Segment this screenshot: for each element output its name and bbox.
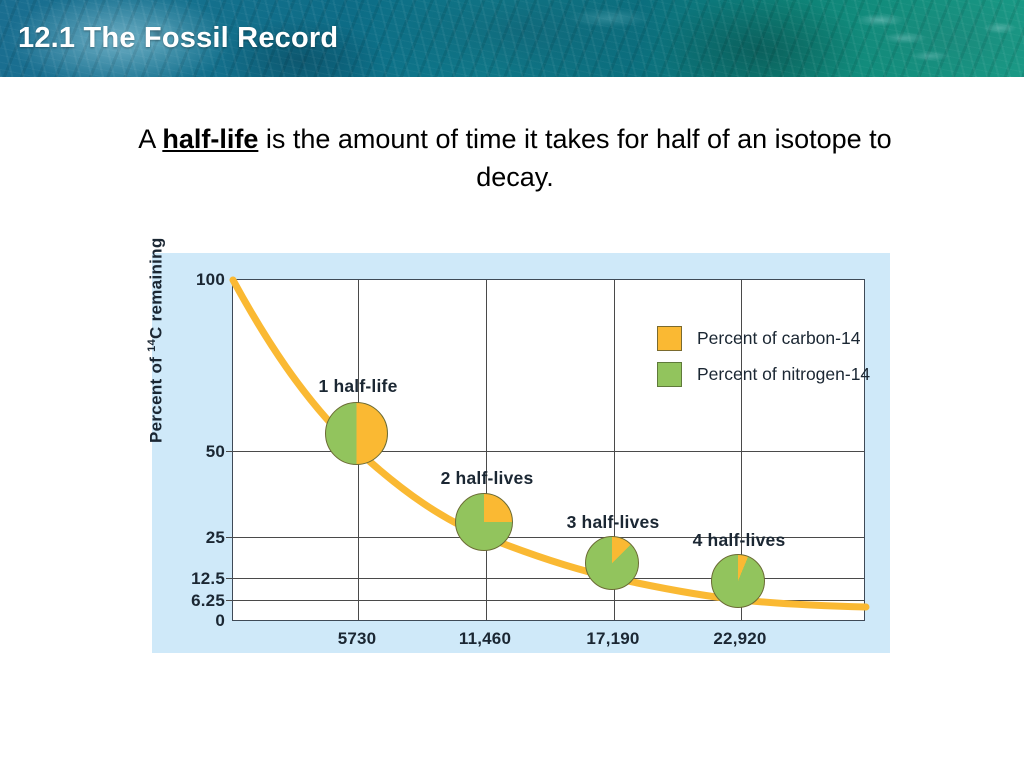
x-tick-label-22920: 22,920 [685, 629, 795, 649]
y-axis-title-prefix: Percent of [147, 352, 166, 443]
half-life-term: half-life [162, 124, 258, 154]
y-tick-label-0: 0 [155, 611, 225, 631]
page-title: 12.1 The Fossil Record [18, 20, 338, 56]
lesson-statement: A half-life is the amount of time it tak… [110, 120, 920, 196]
pie-chart-1-half-life [325, 402, 388, 465]
x-tick-label-17190: 17,190 [558, 629, 668, 649]
slide: 12.1 The Fossil Record A half-life is th… [0, 0, 1024, 768]
pie-label-2-half-lives: 2 half-lives [419, 468, 555, 489]
y-tick-label-25: 25 [155, 528, 225, 548]
pie-chart-3-half-lives [585, 536, 639, 590]
x-tick-label-5730: 5730 [302, 629, 412, 649]
y-tick-label-50: 50 [155, 442, 225, 462]
plot-area: 1 half-life 2 half-lives 3 half-lives 4 … [232, 279, 865, 621]
x-tick-label-11460: 11,460 [430, 629, 540, 649]
y-tick-label-6-25: 6.25 [155, 591, 225, 611]
legend-label-nitrogen-14: Percent of nitrogen-14 [697, 364, 870, 385]
pie-label-1-half-life: 1 half-life [297, 376, 419, 397]
legend-swatch-nitrogen-14-icon [657, 362, 682, 387]
half-life-decay-figure: Percent of 14C remaining 100 50 25 12.5 … [152, 253, 890, 653]
statement-part-2: is the amount of time it takes for half … [258, 124, 891, 192]
y-axis-title: Percent of 14C remaining [146, 237, 167, 443]
chart-legend: Percent of carbon-14 Percent of nitrogen… [657, 326, 870, 398]
legend-item-carbon-14: Percent of carbon-14 [657, 326, 870, 351]
slide-header-banner: 12.1 The Fossil Record [0, 0, 1024, 77]
y-axis-title-superscript: 14 [146, 339, 158, 352]
y-tick-label-100: 100 [155, 270, 225, 290]
legend-swatch-carbon-14-icon [657, 326, 682, 351]
pie-label-3-half-lives: 3 half-lives [545, 512, 681, 533]
pie-chart-4-half-lives [711, 554, 765, 608]
y-tick-label-12-5: 12.5 [155, 569, 225, 589]
pie-label-4-half-lives: 4 half-lives [671, 530, 807, 551]
statement-part-1: A [138, 124, 162, 154]
legend-item-nitrogen-14: Percent of nitrogen-14 [657, 362, 870, 387]
legend-label-carbon-14: Percent of carbon-14 [697, 328, 860, 349]
pie-chart-2-half-lives [455, 493, 513, 551]
